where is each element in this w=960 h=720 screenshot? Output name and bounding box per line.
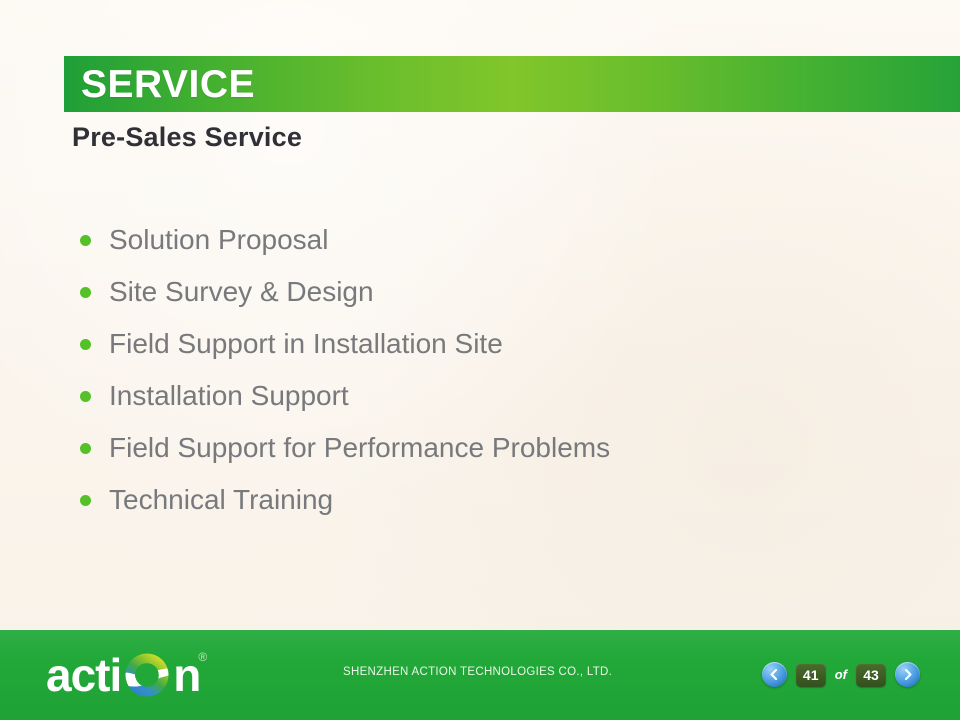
chevron-right-icon <box>903 669 913 680</box>
list-item: Solution Proposal <box>80 214 900 266</box>
previous-slide-button[interactable] <box>762 662 787 687</box>
logo-text-first: acti <box>46 652 121 698</box>
list-item: Site Survey & Design <box>80 266 900 318</box>
bullet-dot-icon <box>80 391 91 402</box>
action-logo: acti <box>46 648 207 702</box>
list-item-label: Solution Proposal <box>109 225 328 256</box>
current-page-number[interactable]: 41 <box>796 663 826 687</box>
footer-company-name: SHENZHEN ACTION TECHNOLOGIES CO., LTD. <box>343 666 612 678</box>
logo-text-last: n <box>173 652 200 698</box>
slide-title-banner: SERVICE <box>64 56 960 112</box>
slide-subtitle: Pre-Sales Service <box>72 122 302 153</box>
bullet-dot-icon <box>80 339 91 350</box>
slide-pagination: 41 of 43 <box>762 662 920 687</box>
list-item-label: Site Survey & Design <box>109 277 374 308</box>
list-item: Technical Training <box>80 474 900 526</box>
action-swirl-logo-icon <box>122 650 172 700</box>
total-page-number[interactable]: 43 <box>856 663 886 687</box>
list-item-label: Installation Support <box>109 381 349 412</box>
bullet-dot-icon <box>80 495 91 506</box>
presentation-slide: SERVICE Pre-Sales Service Solution Propo… <box>0 0 960 720</box>
list-item: Installation Support <box>80 370 900 422</box>
slide-title: SERVICE <box>64 65 255 104</box>
list-item: Field Support for Performance Problems <box>80 422 900 474</box>
bullet-dot-icon <box>80 287 91 298</box>
pagination-separator: of <box>835 668 847 681</box>
bullet-dot-icon <box>80 443 91 454</box>
bullet-dot-icon <box>80 235 91 246</box>
list-item-label: Field Support in Installation Site <box>109 329 503 360</box>
list-item-label: Field Support for Performance Problems <box>109 433 610 464</box>
list-item-label: Technical Training <box>109 485 333 516</box>
chevron-left-icon <box>769 669 779 680</box>
next-slide-button[interactable] <box>895 662 920 687</box>
registered-trademark-icon: ® <box>198 650 207 664</box>
list-item: Field Support in Installation Site <box>80 318 900 370</box>
service-bullet-list: Solution Proposal Site Survey & Design F… <box>80 214 900 526</box>
